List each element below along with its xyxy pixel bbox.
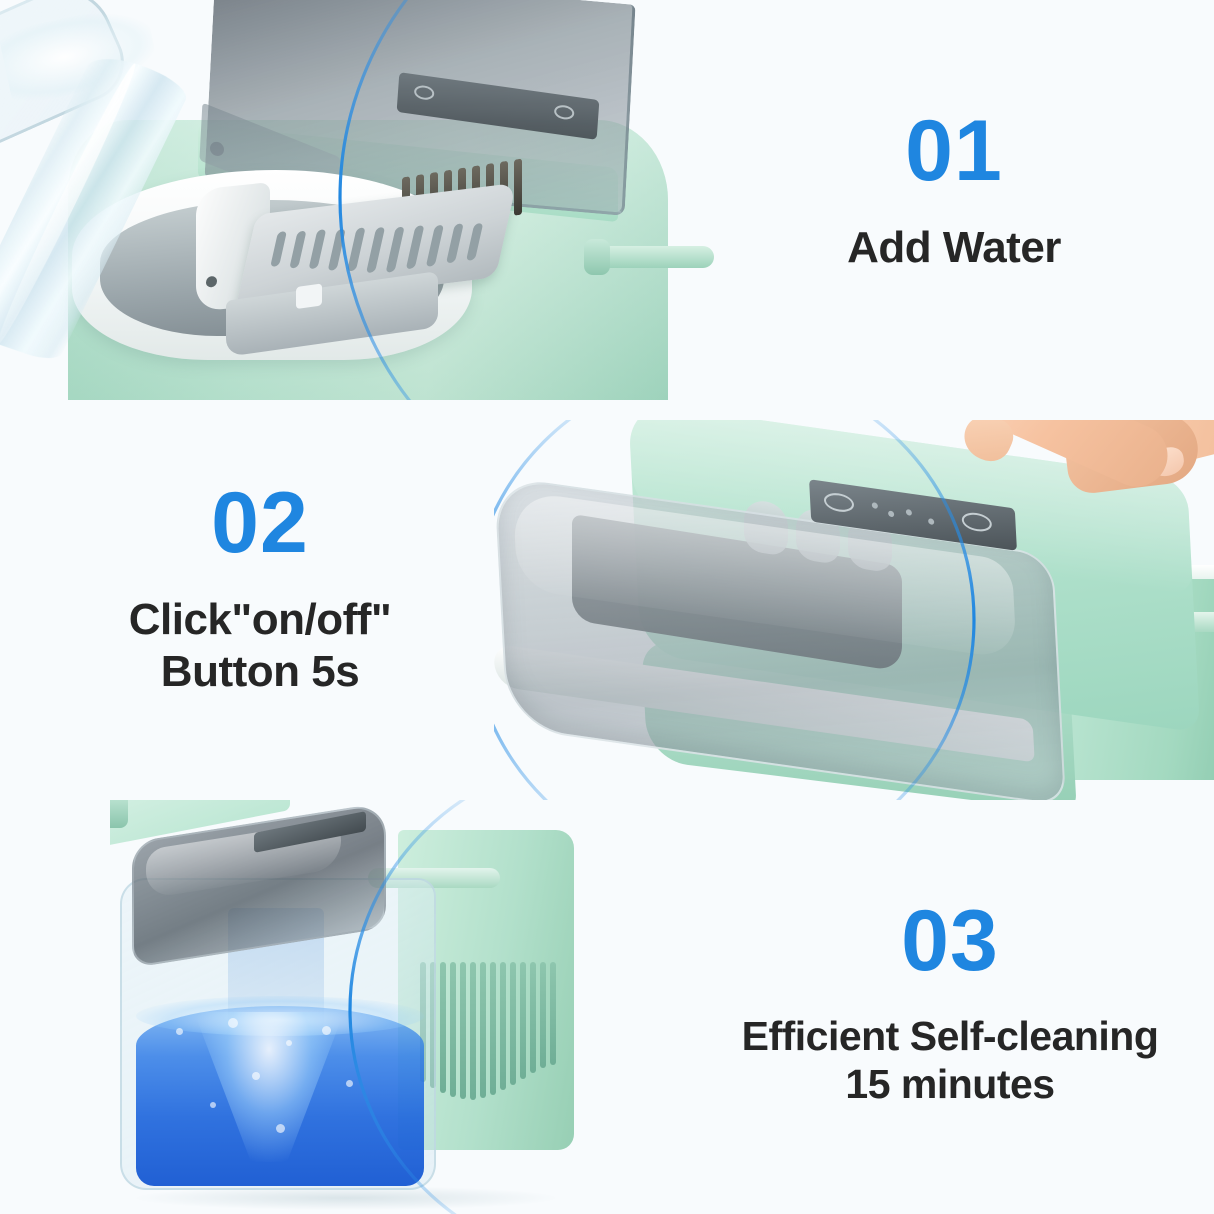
vent-slat — [440, 962, 446, 1093]
step-3-number: 03 — [690, 898, 1210, 984]
vent-slat — [510, 962, 516, 1085]
tray-slot — [386, 226, 405, 272]
power-button-ring — [414, 84, 435, 101]
step-2-photo — [494, 420, 1214, 800]
evaporator-rod — [514, 158, 522, 215]
tray-slot — [270, 231, 287, 267]
indicator-led — [888, 510, 894, 517]
vent-slat — [490, 962, 496, 1095]
tray-slot — [289, 230, 306, 268]
step-1-number: 01 — [744, 108, 1164, 194]
tray-slot — [426, 224, 444, 266]
vent-slat — [470, 962, 476, 1100]
indicator-led — [906, 509, 912, 516]
product-infographic-poster: 01 Add Water 02 Click"on/off" Button 5s … — [0, 0, 1214, 1214]
vent-slat — [500, 962, 506, 1090]
tray-slot — [366, 227, 385, 273]
bubble — [210, 1102, 216, 1108]
water-bubbles — [136, 1006, 424, 1186]
clean-button-ring — [554, 104, 575, 121]
tray-slot — [446, 224, 464, 264]
power-button-ring — [824, 491, 855, 513]
step-3-text-block: 03 Efficient Self-cleaning 15 minutes — [690, 898, 1210, 1109]
step-2-text-block: 02 Click"on/off" Button 5s — [30, 480, 490, 698]
bubble — [176, 1028, 183, 1035]
pump-screw — [206, 276, 217, 288]
bubble — [252, 1072, 260, 1080]
handle-mount — [584, 239, 610, 275]
tray-notch — [296, 283, 322, 309]
bubble — [322, 1026, 331, 1035]
vent-slat — [520, 962, 526, 1079]
bubble — [286, 1040, 292, 1046]
step-1-label: Add Water — [744, 222, 1164, 274]
step-1-photo — [0, 0, 720, 400]
tray-slot — [406, 225, 425, 269]
step-2-label: Click"on/off" Button 5s — [30, 594, 490, 698]
ventilation-grille — [420, 962, 554, 1112]
indicator-led — [928, 518, 934, 525]
side-handle — [588, 246, 714, 268]
indicator-led — [872, 502, 878, 509]
step-2-number: 02 — [30, 480, 490, 566]
step-3-photo — [110, 800, 670, 1214]
bubble — [276, 1124, 285, 1133]
vent-slat — [550, 962, 556, 1065]
handle-mount — [110, 800, 128, 828]
vent-slat — [540, 962, 546, 1068]
bubble — [346, 1080, 353, 1087]
step-1-text-block: 01 Add Water — [744, 108, 1164, 274]
tray-slot — [328, 228, 346, 270]
hand-pressing-button — [962, 420, 1214, 558]
bubble — [228, 1018, 238, 1028]
step-3-label: Efficient Self-cleaning 15 minutes — [690, 1012, 1210, 1109]
vent-slat — [450, 962, 456, 1097]
vent-slat — [460, 962, 466, 1099]
vent-slat — [530, 962, 536, 1073]
tray-slot — [466, 223, 483, 261]
tray-slot — [308, 229, 326, 269]
vent-slat — [480, 962, 486, 1098]
index-fingertip — [957, 420, 1019, 468]
tray-slot — [347, 228, 366, 272]
swirling-water — [136, 1006, 424, 1186]
